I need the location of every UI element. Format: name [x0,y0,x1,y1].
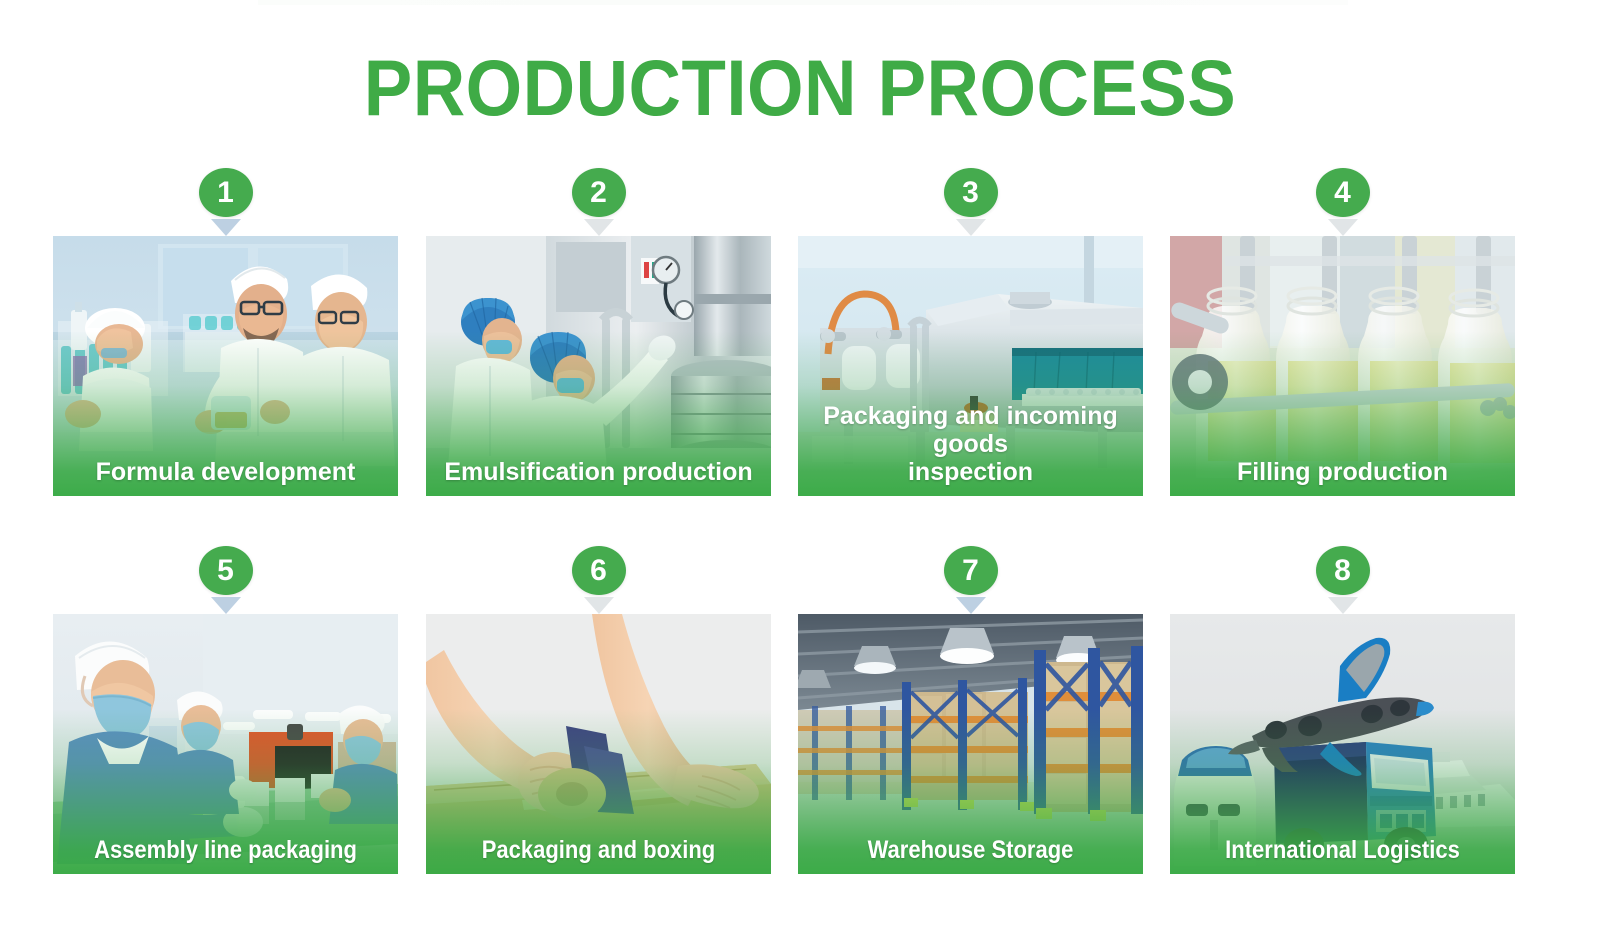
steps-grid: 1 [53,168,1511,924]
step-label-3: Packaging and incoming goods inspection [806,402,1135,486]
step-badge-wrap-3: 3 [798,168,1143,236]
step-card-6[interactable]: 6 [426,546,771,924]
step-label-2: Emulsification production [434,458,763,486]
step-number-badge-5: 5 [199,546,253,595]
step-card-7[interactable]: 7 [798,546,1143,924]
step-photo-7 [798,614,1143,874]
step-photo-6 [426,614,771,874]
step-photo-1 [53,236,398,496]
step-card-4[interactable]: 4 [1170,168,1515,546]
badge-pointer-icon-4 [1328,219,1358,236]
step-badge-wrap-1: 1 [53,168,398,236]
badge-pointer-icon-5 [211,597,241,614]
step-card-2[interactable]: 2 [426,168,771,546]
step-image-card-1[interactable]: Formula development [53,236,398,496]
step-badge-wrap-4: 4 [1170,168,1515,236]
step-photo-5 [53,614,398,874]
step-photo-8 [1170,614,1515,874]
step-number-badge-6: 6 [572,546,626,595]
step-image-card-5[interactable]: Assembly line packaging [53,614,398,874]
step-number-badge-3: 3 [944,168,998,217]
step-number-badge-4: 4 [1316,168,1370,217]
step-badge-wrap-7: 7 [798,546,1143,614]
step-card-8[interactable]: 8 [1170,546,1515,924]
step-label-1: Formula development [61,458,390,486]
step-card-3[interactable]: 3 [798,168,1143,546]
badge-pointer-icon-2 [584,219,614,236]
steps-row-1: 1 [53,168,1511,546]
step-photo-4 [1170,236,1515,496]
step-number-badge-1: 1 [199,168,253,217]
step-number-badge-2: 2 [572,168,626,217]
badge-pointer-icon-3 [956,219,986,236]
step-label-4: Filling production [1178,458,1507,486]
step-image-card-7[interactable]: Warehouse Storage [798,614,1143,874]
step-badge-wrap-2: 2 [426,168,771,236]
step-image-card-6[interactable]: Packaging and boxing [426,614,771,874]
steps-row-2: 5 [53,546,1511,924]
badge-pointer-icon-7 [956,597,986,614]
step-card-5[interactable]: 5 [53,546,398,924]
step-label-8: International Logistics [1198,836,1488,864]
step-number-badge-7: 7 [944,546,998,595]
badge-pointer-icon-1 [211,219,241,236]
step-photo-2 [426,236,771,496]
step-label-6: Packaging and boxing [454,836,744,864]
top-accent-band [258,0,1348,5]
step-image-card-8[interactable]: International Logistics [1170,614,1515,874]
step-badge-wrap-8: 8 [1170,546,1515,614]
step-label-5: Assembly line packaging [81,836,371,864]
step-card-1[interactable]: 1 [53,168,398,546]
production-process-infographic: PRODUCTION PROCESS 1 [0,0,1600,943]
page-title: PRODUCTION PROCESS [64,48,1536,127]
step-badge-wrap-5: 5 [53,546,398,614]
step-label-7: Warehouse Storage [826,836,1116,864]
step-badge-wrap-6: 6 [426,546,771,614]
step-image-card-4[interactable]: Filling production [1170,236,1515,496]
step-number-badge-8: 8 [1316,546,1370,595]
step-image-card-3[interactable]: Packaging and incoming goods inspection [798,236,1143,496]
badge-pointer-icon-6 [584,597,614,614]
badge-pointer-icon-8 [1328,597,1358,614]
step-image-card-2[interactable]: Emulsification production [426,236,771,496]
